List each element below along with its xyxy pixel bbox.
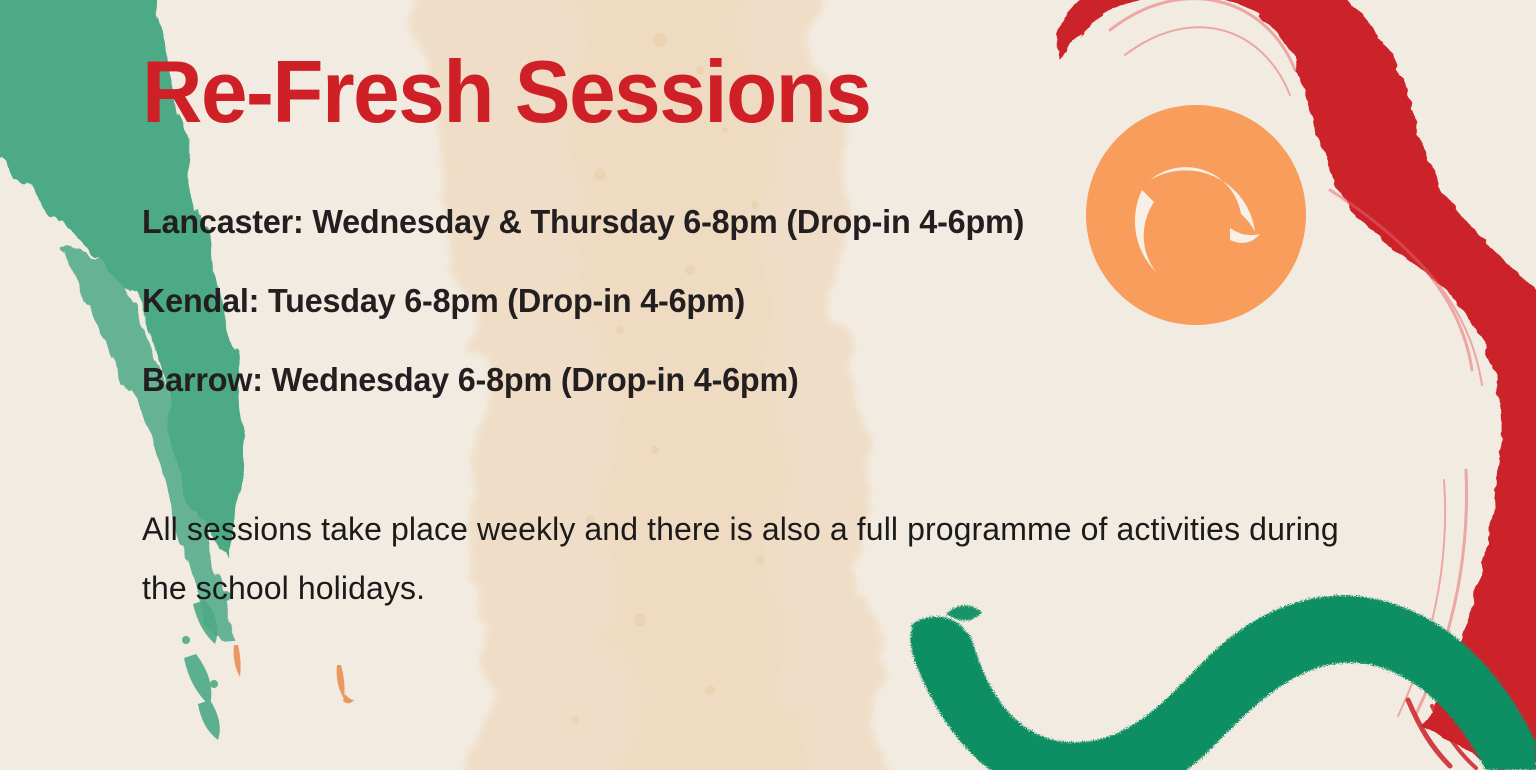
page-title: Re-Fresh Sessions bbox=[142, 48, 870, 136]
session-item-lancaster: Lancaster: Wednesday & Thursday 6-8pm (D… bbox=[142, 205, 1024, 238]
session-schedule-list: Lancaster: Wednesday & Thursday 6-8pm (D… bbox=[142, 205, 1042, 396]
poster-content: Re-Fresh Sessions Lancaster: Wednesday &… bbox=[0, 0, 1536, 770]
session-item-kendal: Kendal: Tuesday 6-8pm (Drop-in 4-6pm) bbox=[142, 284, 1024, 317]
session-item-barrow: Barrow: Wednesday 6-8pm (Drop-in 4-6pm) bbox=[142, 363, 1024, 396]
sessions-note-text: All sessions take place weekly and there… bbox=[142, 500, 1372, 618]
poster-canvas: Re-Fresh Sessions Lancaster: Wednesday &… bbox=[0, 0, 1536, 770]
